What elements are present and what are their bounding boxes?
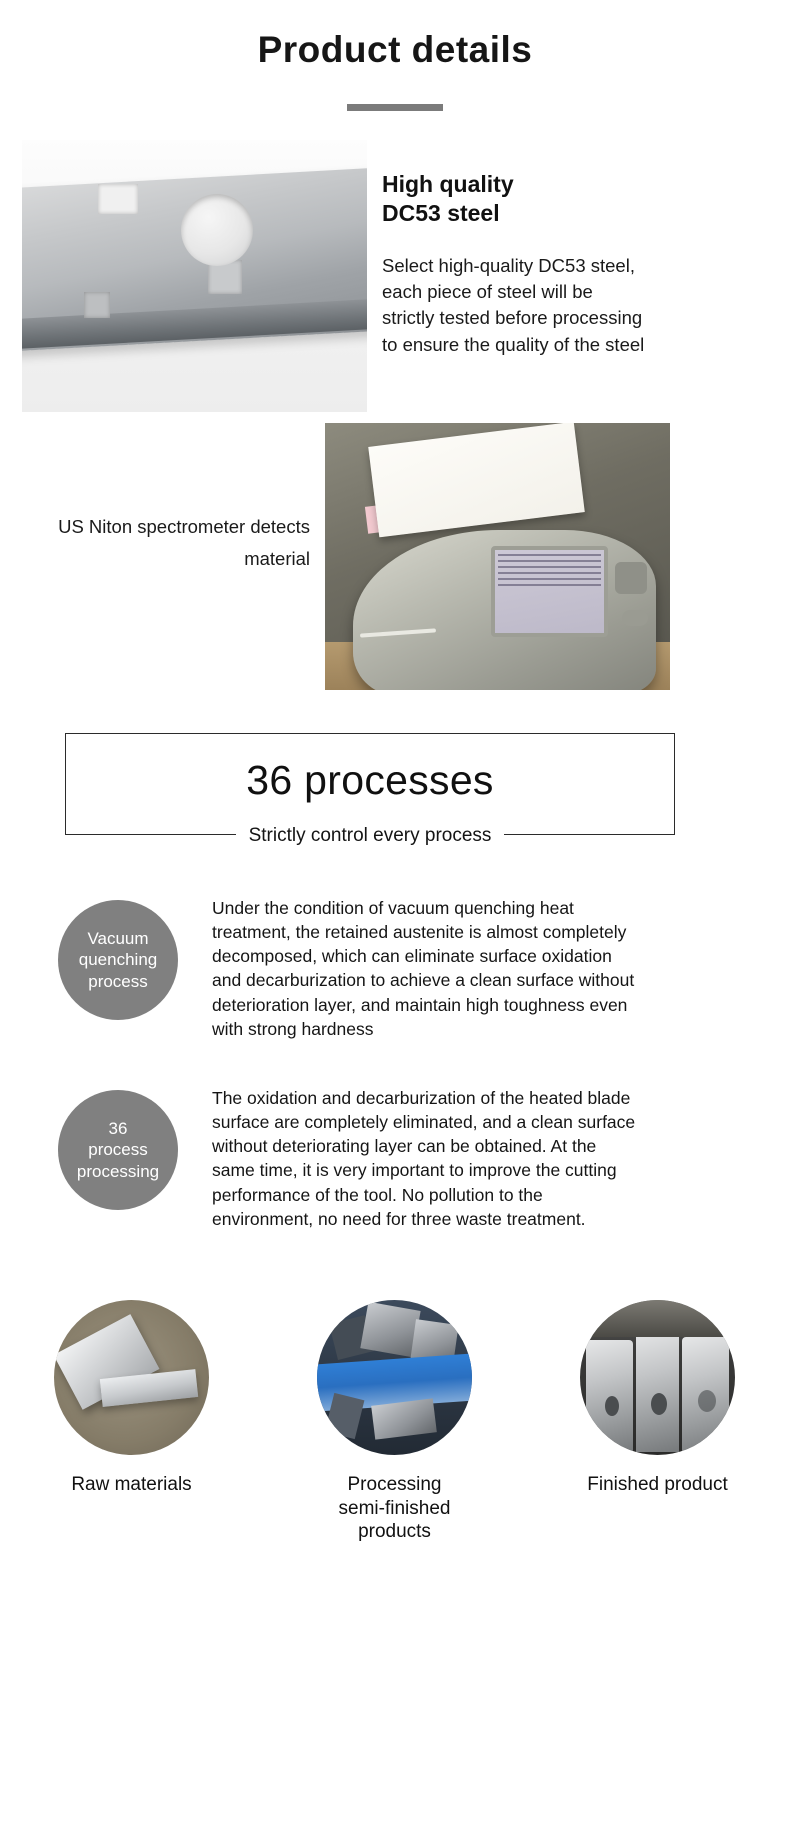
semi-finished-machining-photo xyxy=(317,1300,472,1455)
finished-blade-product-photo xyxy=(580,1300,735,1455)
banner-subtitle-wrap: Strictly control every process xyxy=(66,825,674,848)
gallery-caption-finished-product: Finished product xyxy=(587,1473,727,1497)
gallery-item-raw-materials: Raw materials xyxy=(0,1300,263,1544)
process-badge-vacuum-quenching: Vacuum quenching process xyxy=(58,900,178,1020)
steel-heading: High quality DC53 steel xyxy=(382,170,702,229)
process-text-36-process: The oxidation and decarburization of the… xyxy=(212,1086,637,1231)
steel-text-block: High quality DC53 steel Select high-qual… xyxy=(382,170,702,358)
steel-quality-section: High quality DC53 steel Select high-qual… xyxy=(0,140,790,415)
page-title: Product details xyxy=(0,0,790,72)
spectrometer-section: US Niton spectrometer detects material xyxy=(0,423,790,693)
niton-spectrometer-photo xyxy=(325,423,670,690)
banner-title: 36 processes xyxy=(66,734,674,801)
steel-body-text: Select high-quality DC53 steel, each pie… xyxy=(382,253,647,358)
processes-banner: 36 processes Strictly control every proc… xyxy=(65,733,675,835)
process-text-vacuum-quenching: Under the condition of vacuum quenching … xyxy=(212,896,637,1041)
product-stage-gallery: Raw materials Processing semi-finished p… xyxy=(0,1300,790,1544)
banner-subtitle: Strictly control every process xyxy=(236,825,505,848)
gallery-item-finished-product: Finished product xyxy=(526,1300,789,1544)
spectrometer-caption: US Niton spectrometer detects material xyxy=(40,511,310,576)
process-badge-36-process: 36 process processing xyxy=(58,1090,178,1210)
gallery-caption-raw-materials: Raw materials xyxy=(71,1473,191,1497)
page-header: Product details xyxy=(0,0,790,111)
dc53-steel-blade-photo xyxy=(22,140,367,412)
gallery-item-semi-finished: Processing semi-finished products xyxy=(263,1300,526,1544)
raw-material-steel-bar-photo xyxy=(54,1300,209,1455)
gallery-caption-semi-finished: Processing semi-finished products xyxy=(339,1473,451,1544)
title-divider xyxy=(347,104,443,111)
